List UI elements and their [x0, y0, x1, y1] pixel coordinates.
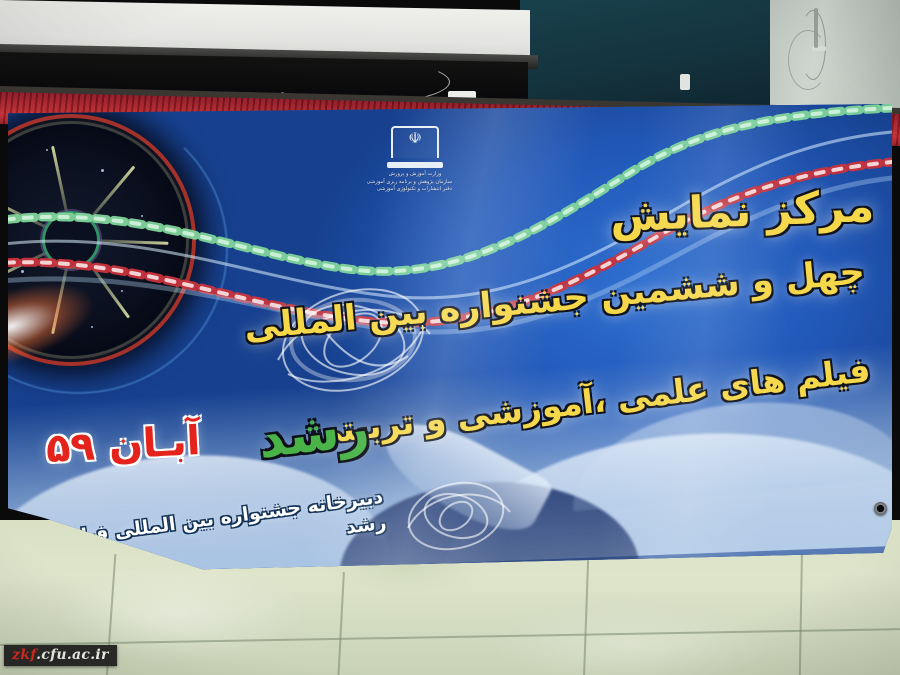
- cable-conduit: [814, 8, 818, 48]
- banner-grommet-bottom-right: [874, 502, 887, 515]
- org-line-3: دفتر انتشارات و تکنولوژی آموزشی: [378, 186, 452, 194]
- wall-panel-teal: [520, 0, 770, 112]
- floor-grout-line: [337, 572, 345, 675]
- wall-socket: [680, 74, 690, 90]
- floor-grout-line: [583, 560, 589, 675]
- watermark-prefix: zkf: [12, 647, 36, 663]
- floor-grout-line: [0, 628, 900, 646]
- org-line-2: سازمان پژوهش و برنامه ریزی آموزشی: [378, 179, 452, 187]
- ministry-logo: ☫ وزارت آموزش و پرورش سازمان پژوهش و برن…: [378, 126, 452, 194]
- photo-scene: ☫ وزارت آموزش و پرورش سازمان پژوهش و برن…: [0, 0, 900, 675]
- laptop-base: [387, 162, 443, 168]
- org-line-1: وزارت آموزش و پرورش: [378, 171, 452, 179]
- light-swirl-book: [394, 464, 524, 574]
- festival-banner: ☫ وزارت آموزش و پرورش سازمان پژوهش و برن…: [8, 104, 892, 574]
- floor-grout-line: [799, 538, 803, 675]
- watermark-suffix: .cfu.ac.ir: [36, 647, 109, 663]
- laptop-book-icon: ☫: [387, 126, 443, 168]
- banner-date: آبـان ۹۵: [45, 418, 202, 472]
- ministry-org-lines: وزارت آموزش و پرورش سازمان پژوهش و برنام…: [378, 171, 452, 194]
- laptop-lid: ☫: [391, 126, 439, 158]
- wall-pillar-right: [760, 0, 900, 118]
- site-watermark: zkf.cfu.ac.ir: [4, 645, 117, 666]
- cable-loop-2: [800, 10, 826, 80]
- banner-headline: مرکز نمایش: [609, 181, 875, 242]
- iran-emblem-icon: ☫: [408, 131, 421, 146]
